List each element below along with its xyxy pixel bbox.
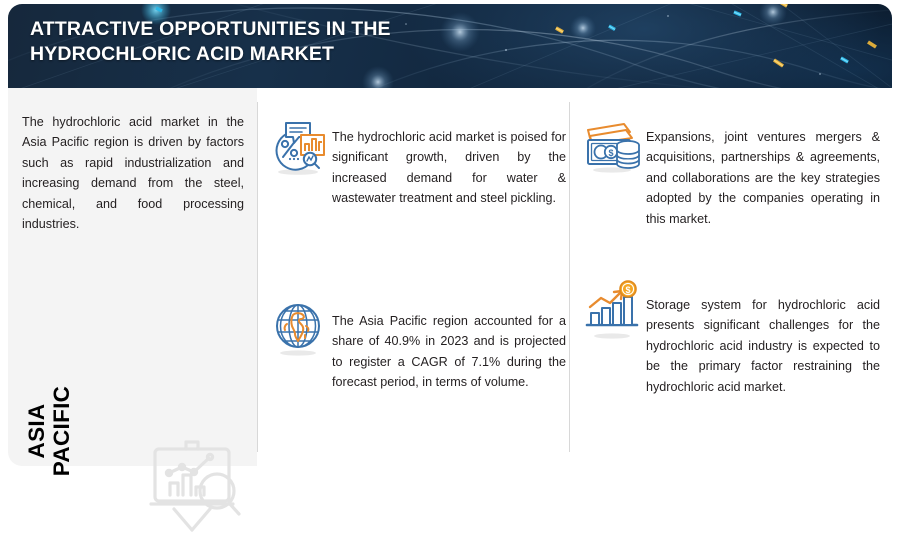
insight-block-text: Expansions, joint ventures mergers & acq… bbox=[646, 125, 880, 230]
svg-text:$: $ bbox=[625, 285, 630, 295]
growth-bar-chart-dollar-icon: $ bbox=[580, 280, 646, 346]
header-banner: ATTRACTIVE OPPORTUNITIES IN THE HYDROCHL… bbox=[8, 4, 892, 88]
insight-block-market-growth: The hydrochloric acid market is poised f… bbox=[266, 112, 566, 221]
insight-block-text: The hydrochloric acid market is poised f… bbox=[332, 125, 566, 209]
insight-block-market-restraint: $ Storage system for hydrochloric acid p… bbox=[580, 280, 880, 410]
content-area: The hydrochloric acid market in the Asia… bbox=[8, 88, 892, 466]
insight-block-regional-share: The Asia Pacific region accounted for a … bbox=[266, 296, 566, 405]
page-title: ATTRACTIVE OPPORTUNITIES IN THE HYDROCHL… bbox=[30, 17, 550, 67]
region-summary-text: The hydrochloric acid market in the Asia… bbox=[22, 112, 244, 235]
region-label: ASIA PACIFIC bbox=[24, 356, 74, 506]
presentation-chart-magnifier-illustration bbox=[141, 431, 246, 536]
insight-block-text: The Asia Pacific region accounted for a … bbox=[332, 309, 566, 393]
money-cash-coins-icon: $ bbox=[580, 112, 646, 178]
svg-text:$: $ bbox=[608, 148, 613, 158]
insight-block-text: Storage system for hydrochloric acid pre… bbox=[646, 293, 880, 398]
analytics-percent-chart-icon bbox=[266, 112, 332, 178]
region-summary-panel: The hydrochloric acid market in the Asia… bbox=[8, 88, 257, 466]
insight-block-key-strategies: $ Expansions, joint ventures mergers & a… bbox=[580, 112, 880, 242]
column-divider-left bbox=[257, 102, 258, 452]
infographic-card: ATTRACTIVE OPPORTUNITIES IN THE HYDROCHL… bbox=[0, 0, 900, 470]
globe-icon bbox=[266, 296, 332, 362]
column-divider-right bbox=[569, 102, 570, 452]
